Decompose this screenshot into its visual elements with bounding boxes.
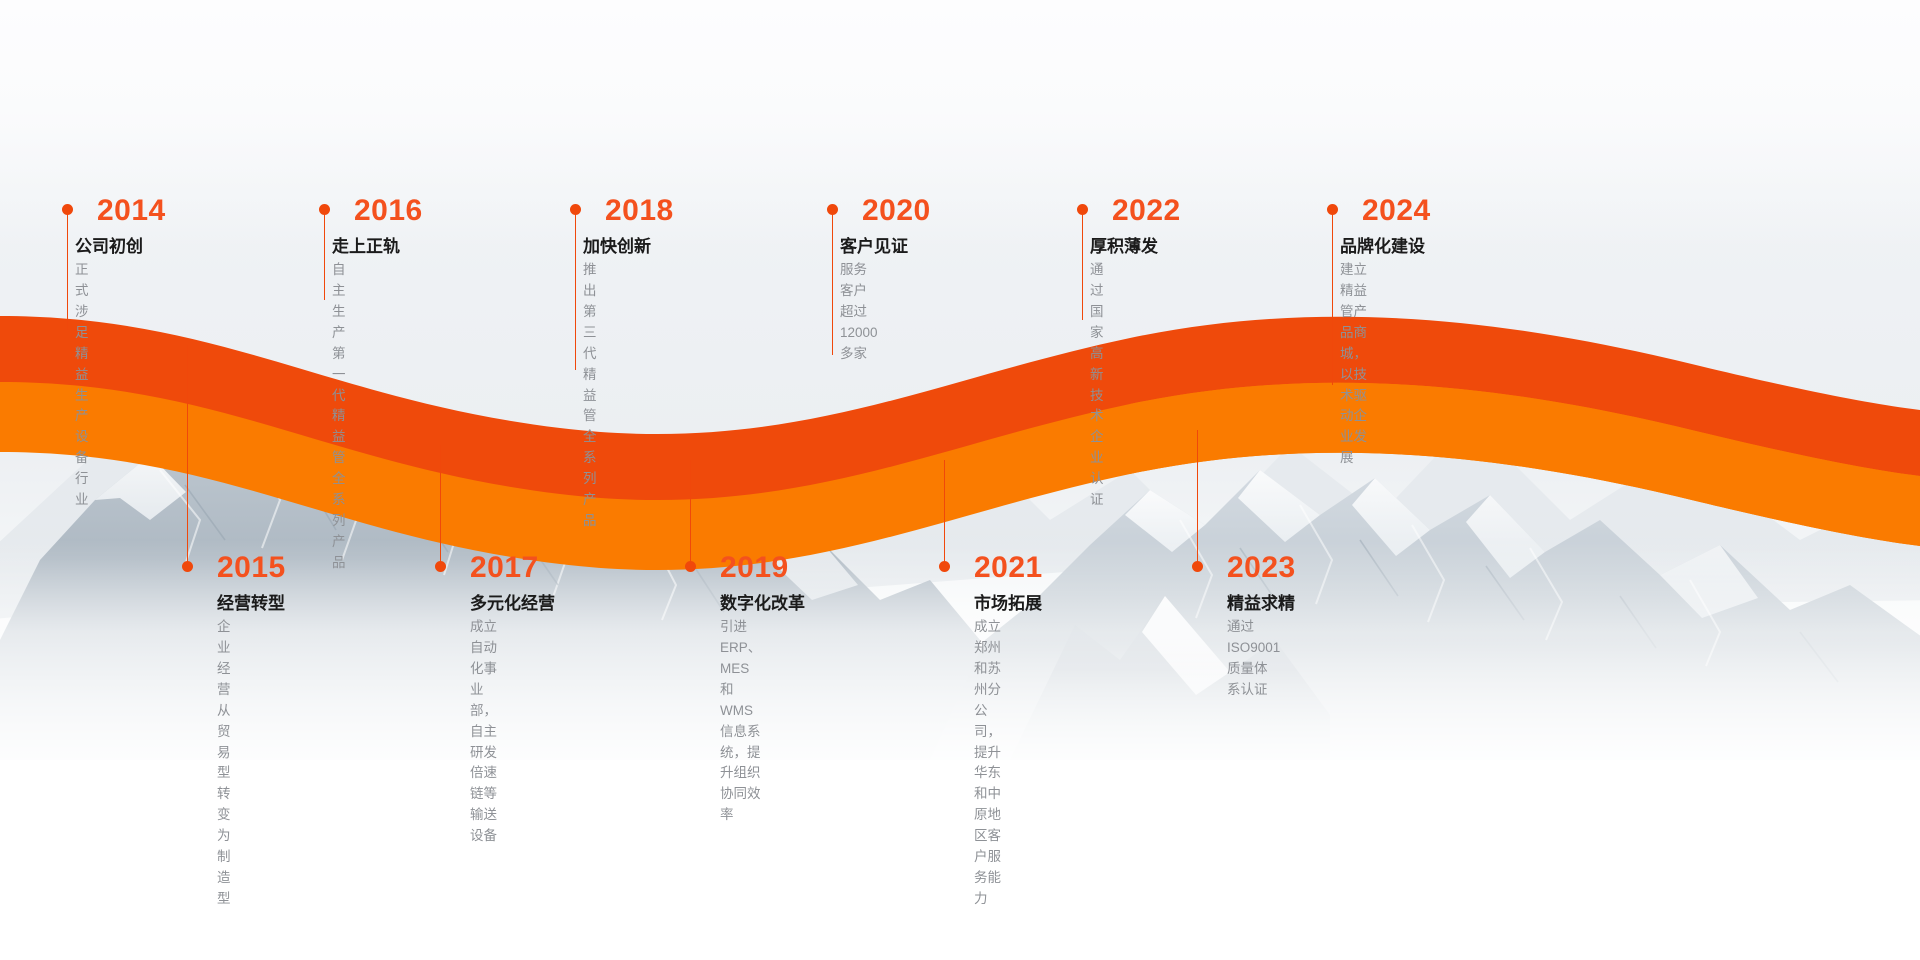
timeline-event-description: 服务客户超过12000多家 [840,260,878,365]
timeline-connector-line [1332,210,1333,385]
timeline-connector-line [944,460,945,565]
timeline-event-title: 精益求精 [1227,595,1295,612]
timeline-year-label: 2015 [217,553,286,583]
orange-wave-ribbon [0,0,1920,960]
timeline-event-title: 经营转型 [217,595,285,612]
timeline-event-description: 建立精益管产品商城， 以技术驱动企业发展 [1340,260,1367,469]
timeline-connector-line [324,210,325,300]
timeline-year-label: 2016 [354,196,423,226]
timeline-event-description: 成立自动化事业部， 自主研发倍速链等输送设备 [470,617,497,847]
timeline-event-title: 加快创新 [583,238,651,255]
timeline-year-label: 2020 [862,196,931,226]
timeline-year-label: 2019 [720,553,789,583]
timeline-connector-line [1197,430,1198,565]
timeline-connector-line [187,345,188,565]
timeline-event-title: 数字化改革 [720,595,805,612]
timeline-event-title: 厚积薄发 [1090,238,1158,255]
timeline-connector-line [690,460,691,565]
timeline-infographic: 2014公司初创正式涉足精益生产设备行业2016走上正轨自主生产第一代精益管全系… [0,0,1920,960]
timeline-year-label: 2023 [1227,553,1296,583]
timeline-event-description: 通过ISO9001质量体系认证 [1227,617,1280,701]
timeline-connector-line [440,445,441,565]
timeline-event-description: 自主生产第一代精益管全系列产品 [332,260,346,574]
timeline-event-title: 公司初创 [75,238,143,255]
timeline-event-title: 多元化经营 [470,595,555,612]
timeline-event-title: 走上正轨 [332,238,400,255]
timeline-connector-line [832,210,833,355]
timeline-year-label: 2021 [974,553,1043,583]
timeline-year-label: 2014 [97,196,166,226]
timeline-year-label: 2017 [470,553,539,583]
timeline-event-description: 通过国家高新技术企业认证 [1090,260,1104,511]
timeline-year-label: 2018 [605,196,674,226]
timeline-event-title: 客户见证 [840,238,908,255]
timeline-year-label: 2024 [1362,196,1431,226]
timeline-event-description: 引进ERP、MES和WMS 信息系统，提升组织协同效率 [720,617,761,826]
timeline-year-label: 2022 [1112,196,1181,226]
timeline-event-title: 市场拓展 [974,595,1042,612]
timeline-connector-line [67,210,68,330]
timeline-event-description: 推出第三代精益管全系列产品 [583,260,597,532]
timeline-event-description: 企业经营从贸易型转变为制造型 [217,617,231,910]
timeline-event-description: 正式涉足精益生产设备行业 [75,260,89,511]
timeline-event-description: 成立郑州和苏州分公司， 提升华东和中原地区客户服务能力 [974,617,1001,910]
timeline-event-title: 品牌化建设 [1340,238,1425,255]
timeline-connector-line [1082,210,1083,320]
timeline-connector-line [575,210,576,370]
